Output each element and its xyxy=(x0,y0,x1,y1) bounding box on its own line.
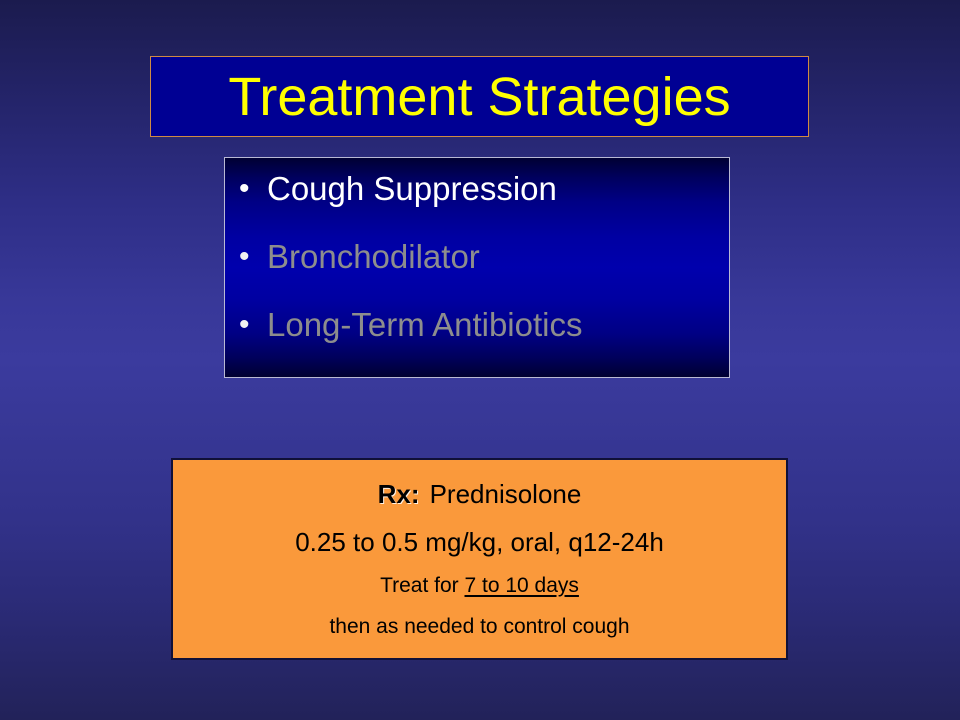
list-item-label: Bronchodilator xyxy=(267,240,480,273)
slide-canvas: Treatment Strategies • Cough Suppression… xyxy=(0,0,960,720)
title-box: Treatment Strategies xyxy=(150,56,809,137)
prescription-duration-prefix: Treat for xyxy=(380,574,464,597)
list-item-label: Long-Term Antibiotics xyxy=(267,308,582,341)
bullet-marker-icon: • xyxy=(239,174,267,204)
list-item: • Long-Term Antibiotics xyxy=(239,308,729,376)
prescription-followup: then as needed to control cough xyxy=(329,616,629,637)
prescription-drug-name: Prednisolone xyxy=(430,479,582,509)
prescription-label: Rx: xyxy=(378,479,420,509)
list-item: • Cough Suppression xyxy=(239,172,729,240)
prescription-duration-value: 7 to 10 days xyxy=(465,574,579,597)
prescription-duration-line: Treat for 7 to 10 days xyxy=(380,575,579,596)
prescription-dose: 0.25 to 0.5 mg/kg, oral, q12-24h xyxy=(295,529,664,555)
page-title: Treatment Strategies xyxy=(228,70,730,124)
bullet-marker-icon: • xyxy=(239,310,267,340)
bullet-list-box: • Cough Suppression • Bronchodilator • L… xyxy=(224,157,730,378)
list-item-label: Cough Suppression xyxy=(267,172,557,205)
prescription-box: Rx:Prednisolone 0.25 to 0.5 mg/kg, oral,… xyxy=(171,458,788,660)
list-item: • Bronchodilator xyxy=(239,240,729,308)
bullet-marker-icon: • xyxy=(239,242,267,272)
prescription-drug-line: Rx:Prednisolone xyxy=(378,481,582,507)
